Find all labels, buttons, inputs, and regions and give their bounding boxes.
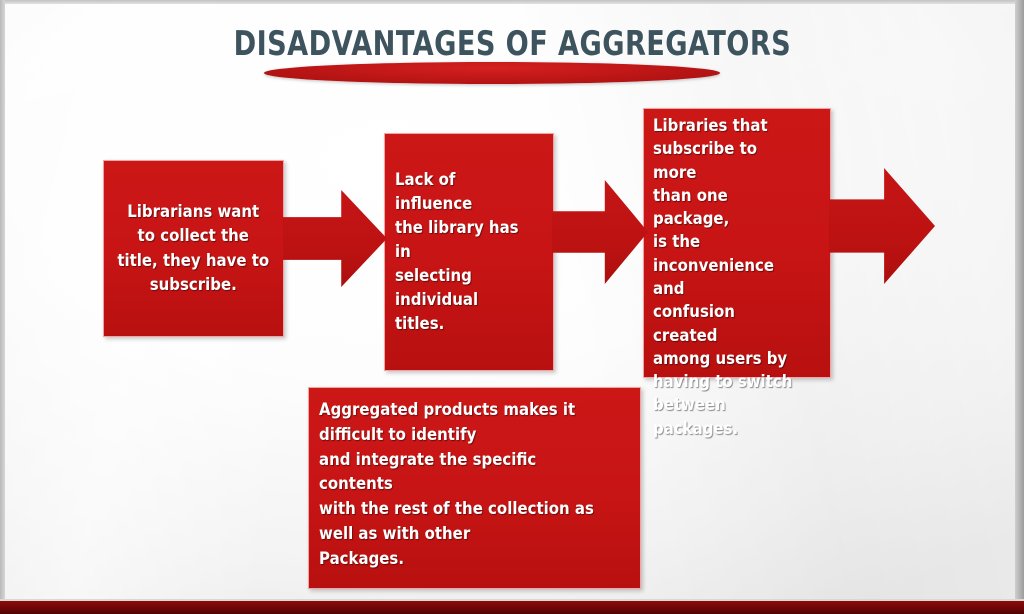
flow-box-aggregated-products: Aggregated products makes it difficult t… xyxy=(308,387,641,589)
right-arrow-icon xyxy=(283,190,387,287)
frame-edge-left xyxy=(0,0,5,614)
right-arrow-icon xyxy=(829,168,935,284)
flow-box-text: Libraries that subscribe to more than on… xyxy=(653,115,803,441)
slide-canvas: DISADVANTAGES OF AGGREGATORS Librarians … xyxy=(0,0,1024,614)
flow-box-lack-of-influence: Lack of influence the library has in sel… xyxy=(384,133,554,371)
flow-box-text: Lack of influence the library has in sel… xyxy=(395,168,527,337)
right-arrow-icon xyxy=(552,180,648,284)
flow-box-text: Aggregated products makes it difficult t… xyxy=(319,398,594,572)
flow-box-multiple-packages: Libraries that subscribe to more than on… xyxy=(643,108,831,378)
flow-box-librarians-subscribe: Librarians want to collect the title, th… xyxy=(103,160,284,337)
frame-edge-bottom-highlight xyxy=(0,599,1024,601)
frame-edge-top xyxy=(0,0,1024,4)
frame-edge-bottom-bar xyxy=(0,601,1024,614)
flow-box-text: Librarians want to collect the title, th… xyxy=(118,200,270,297)
page-title: DISADVANTAGES OF AGGREGATORS xyxy=(233,24,790,64)
frame-edge-right xyxy=(1015,0,1024,614)
slide-title-container: DISADVANTAGES OF AGGREGATORS xyxy=(0,24,1024,64)
title-underline-ellipse xyxy=(264,62,720,84)
